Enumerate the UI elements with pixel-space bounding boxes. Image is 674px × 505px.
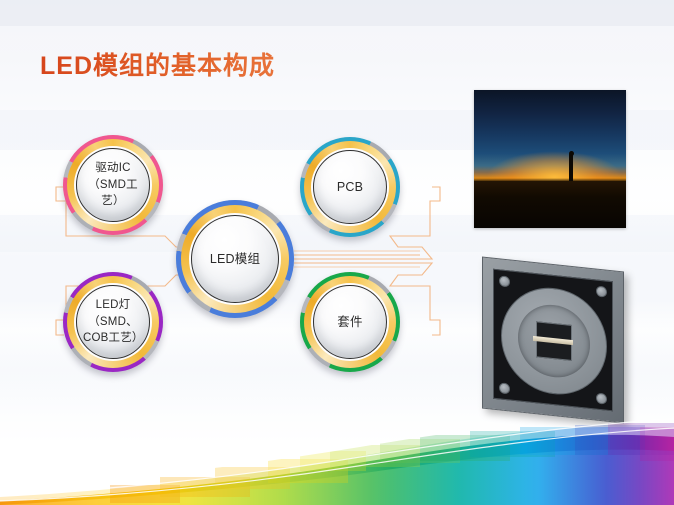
node-label: 套件 [331,313,368,331]
node-label: PCB [331,178,369,196]
sunset-silhouette-photo [474,90,626,228]
panel-corner-screw-bl [499,382,510,394]
panel-corner-screw-tl [499,275,510,287]
panel-corner-screw-br [596,393,607,405]
node-label: LED灯 （SMD、 COB工艺） [77,297,149,347]
sunset-ground [474,181,626,228]
slide-canvas: LED模组的基本构成 [0,0,674,505]
diagram-node-drive-ic[interactable]: 驱动IC （SMD工 艺） [63,135,163,235]
node-label: 驱动IC （SMD工 艺） [82,160,144,210]
node-label: LED模组 [204,250,266,268]
diagram-node-center[interactable]: LED模组 [176,200,294,318]
node-disc: 驱动IC （SMD工 艺） [76,148,150,222]
led-cabinet-rear-photo [476,258,636,420]
page-title: LED模组的基本构成 [40,46,275,82]
diagram-node-pcb[interactable]: PCB [300,137,400,237]
node-disc: LED灯 （SMD、 COB工艺） [76,285,150,359]
node-disc: 套件 [313,285,387,359]
panel-corner-screw-tr [596,286,607,298]
diagram-node-kit[interactable]: 套件 [300,272,400,372]
person-silhouette-icon [569,153,573,181]
node-disc: PCB [313,150,387,224]
panel-body [482,257,624,424]
node-disc: LED模组 [191,215,279,303]
diagram-node-led-lamp[interactable]: LED灯 （SMD、 COB工艺） [63,272,163,372]
